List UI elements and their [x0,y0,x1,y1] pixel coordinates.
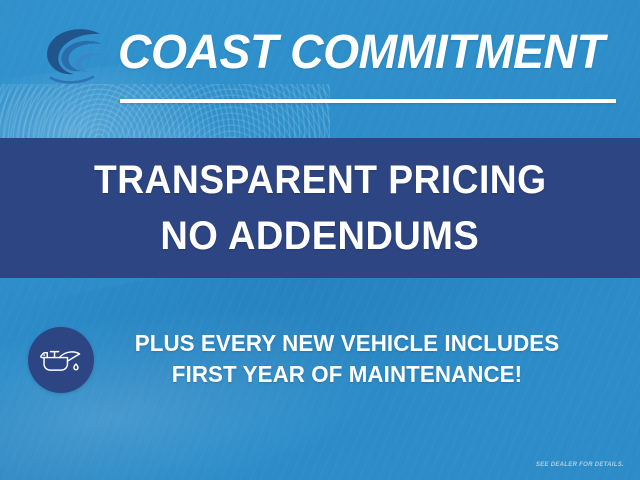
coast-commitment-banner: COAST COMMITMENT TRANSPARENT PRICING NO … [0,0,640,480]
oil-can-icon [28,327,94,393]
page-title: COAST COMMITMENT [118,22,612,84]
banner-header: COAST COMMITMENT [0,0,640,138]
wave-swirl-logo-icon [36,22,112,92]
promo-text-block: PLUS EVERY NEW VEHICLE INCLUDES FIRST YE… [108,328,586,390]
pricing-headline-primary: TRANSPARENT PRICING [94,152,547,208]
maintenance-promo: PLUS EVERY NEW VEHICLE INCLUDES FIRST YE… [0,320,640,402]
promo-line-secondary: FIRST YEAR OF MAINTENANCE! [115,359,579,390]
promo-line-primary: PLUS EVERY NEW VEHICLE INCLUDES [115,328,579,359]
pricing-headline-secondary: NO ADDENDUMS [161,208,480,264]
pricing-banner: TRANSPARENT PRICING NO ADDENDUMS [0,138,640,278]
header-divider [120,99,616,103]
disclaimer-text: SEE DEALER FOR DETAILS. [536,462,624,468]
